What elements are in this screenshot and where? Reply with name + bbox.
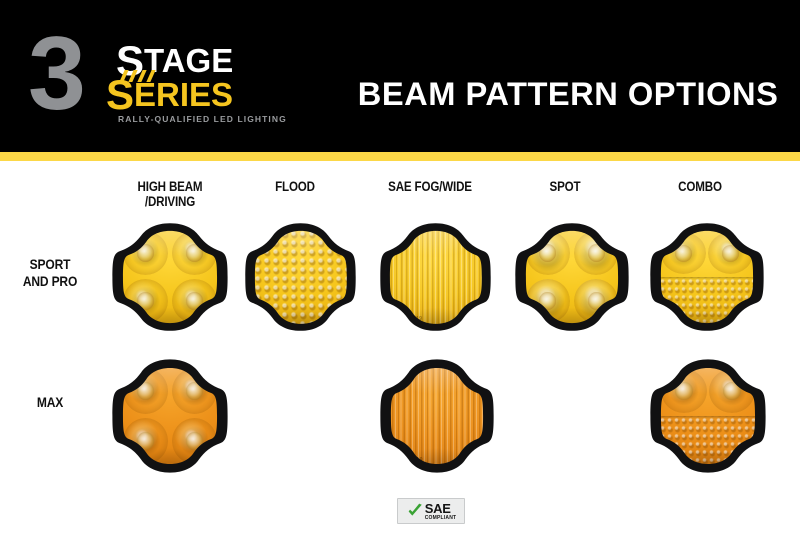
lens-inner: SAE F 19	[388, 229, 482, 324]
logo-series-rest: ERIES	[134, 76, 233, 113]
lens-sport-sae-fog-wide[interactable]: SAE F 19	[378, 221, 493, 333]
lens-sae-etching: SAE F 19	[398, 457, 423, 463]
column-header-line1: SAE FOG/WIDE	[370, 179, 490, 194]
lens-inner	[524, 229, 621, 324]
lens-body	[110, 357, 230, 475]
header-accent-bar	[0, 152, 800, 161]
column-header-flood: FLOOD	[235, 179, 355, 194]
sae-badge-subtitle: COMPLIANT	[425, 516, 457, 521]
row-label-line2: AND PRO	[7, 273, 93, 290]
column-header-line1: HIGH BEAM	[110, 179, 230, 194]
lens-gloss	[389, 366, 486, 466]
lens-gloss	[121, 229, 219, 324]
lens-max-combo[interactable]	[648, 357, 768, 475]
lens-body: SAE F 19	[378, 221, 493, 333]
column-header-spot: SPOT	[505, 179, 625, 194]
logo-numeral-3: 3	[28, 22, 82, 126]
column-header-line1: COMBO	[640, 179, 760, 194]
row-label-max: MAX	[7, 394, 93, 411]
lens-inner	[121, 366, 219, 466]
stage-series-logo: 3 STAGE SERIES RALLY-QUALIFIED LED LIGHT…	[28, 26, 258, 126]
lens-gloss	[121, 366, 219, 466]
lens-sae-etching: SAE F 19	[398, 316, 423, 322]
column-header-line1: SPOT	[505, 179, 625, 194]
lens-body: SAE F 19	[378, 357, 496, 475]
sae-compliant-badge: SAE COMPLIANT	[397, 498, 465, 524]
column-header-line2: /DRIVING	[110, 194, 230, 209]
sae-badge-title: SAE	[425, 502, 451, 515]
sae-badge-text: SAE COMPLIANT	[425, 502, 457, 521]
column-header-sae-fog-wide: SAE FOG/WIDE	[370, 179, 490, 194]
lens-gloss	[253, 229, 347, 324]
beam-pattern-grid: HIGH BEAM /DRIVING FLOOD SAE FOG/WIDE SP…	[0, 161, 800, 533]
column-header-line1: FLOOD	[235, 179, 355, 194]
logo-word-series: SERIES	[106, 78, 233, 111]
lens-gloss	[388, 229, 482, 324]
green-checkmark-icon	[406, 502, 424, 520]
lens-max-sae-fog-wide[interactable]: SAE F 19	[378, 357, 496, 475]
lens-inner	[659, 366, 757, 466]
lens-body	[110, 221, 230, 333]
page-title: BEAM PATTERN OPTIONS	[357, 76, 778, 113]
lens-inner	[253, 229, 347, 324]
lens-sport-combo[interactable]	[648, 221, 766, 333]
row-label-line1: SPORT	[7, 256, 93, 273]
lens-gloss	[659, 229, 756, 324]
header-banner: 3 STAGE SERIES RALLY-QUALIFIED LED LIGHT…	[0, 0, 800, 152]
lens-inner: SAE F 19	[389, 366, 486, 466]
row-label-sport-and-pro: SPORT AND PRO	[7, 256, 93, 290]
lens-inner	[659, 229, 756, 324]
column-header-high-beam-driving: HIGH BEAM /DRIVING	[110, 179, 230, 209]
logo-tagline: RALLY-QUALIFIED LED LIGHTING	[118, 114, 287, 124]
lens-max-spot-empty	[513, 357, 631, 475]
lens-body	[648, 357, 768, 475]
lens-sport-high-beam-driving[interactable]	[110, 221, 230, 333]
logo-series-cap: S	[106, 71, 134, 118]
lens-sport-spot[interactable]	[513, 221, 631, 333]
lens-gloss	[659, 366, 757, 466]
row-label-line1: MAX	[7, 394, 93, 411]
beam-pattern-options-page: 3 STAGE SERIES RALLY-QUALIFIED LED LIGHT…	[0, 0, 800, 533]
lens-inner	[121, 229, 219, 324]
lens-max-high-beam-driving[interactable]	[110, 357, 230, 475]
lens-body	[513, 221, 631, 333]
lens-max-flood-empty	[243, 357, 358, 475]
lens-body	[243, 221, 358, 333]
lens-body	[648, 221, 766, 333]
lens-gloss	[524, 229, 621, 324]
lens-sport-flood[interactable]	[243, 221, 358, 333]
column-header-combo: COMBO	[640, 179, 760, 194]
